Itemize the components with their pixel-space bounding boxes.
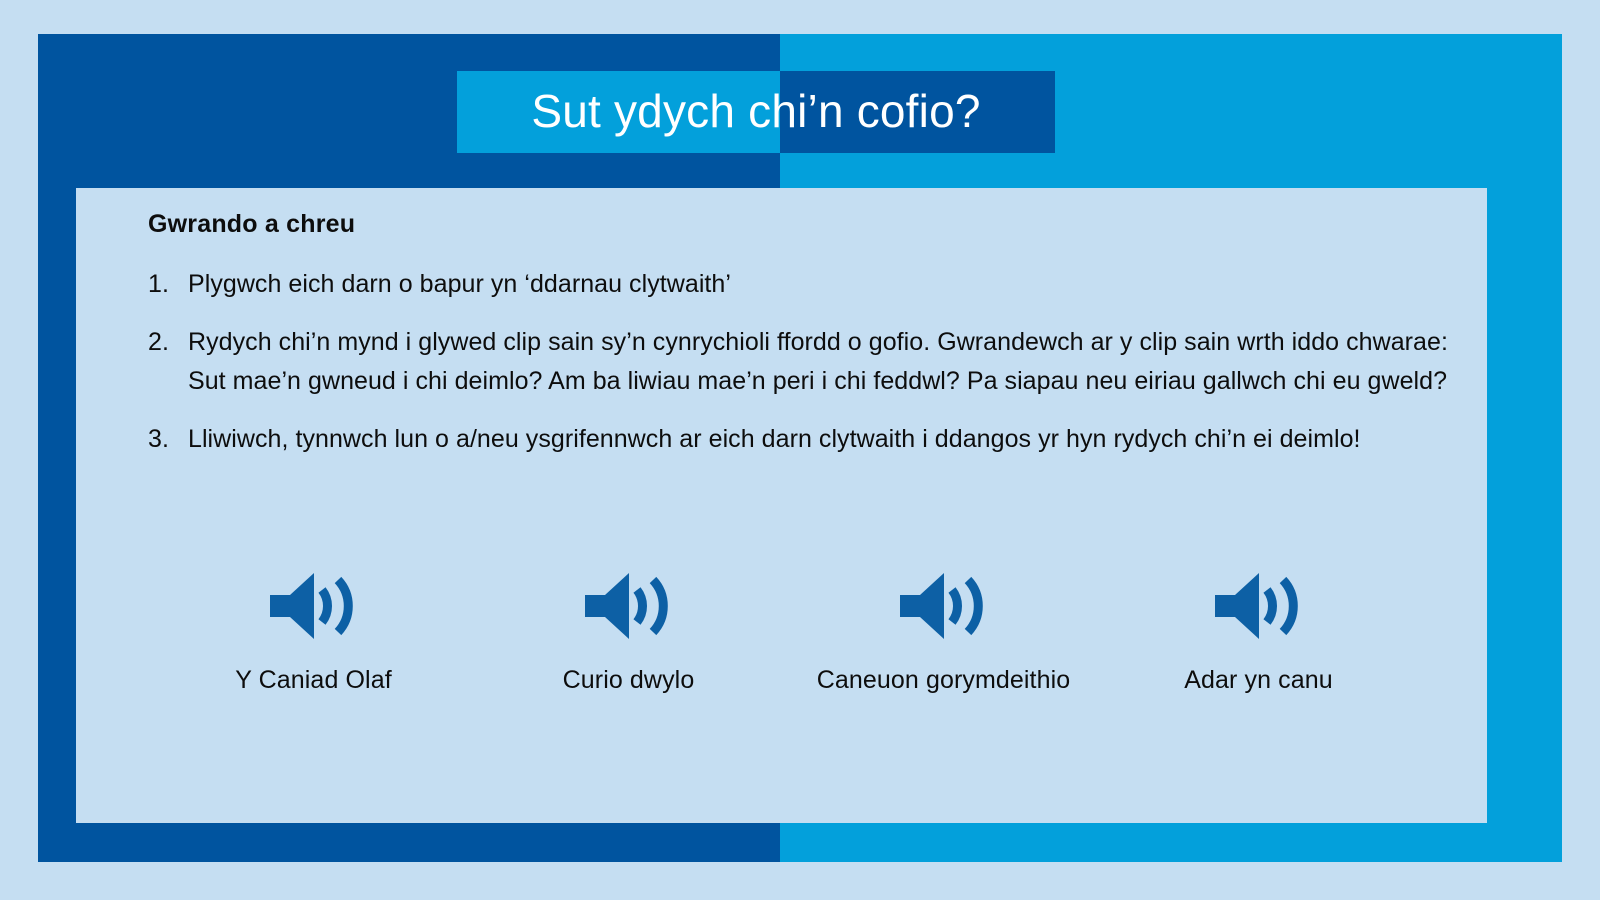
content-card: Gwrando a chreu Plygwch eich darn o bapu… [76, 188, 1487, 823]
speaker-icon[interactable] [894, 570, 994, 642]
slide-canvas: Sut ydych chi’n cofio? Gwrando a chreu P… [0, 0, 1600, 900]
instruction-step: Rydych chi’n mynd i glywed clip sain sy’… [148, 323, 1451, 402]
audio-clip-label: Curio dwylo [471, 664, 786, 697]
slide-title: Sut ydych chi’n cofio? [457, 71, 1055, 153]
instruction-step: Plygwch eich darn o bapur yn ‘ddarnau cl… [148, 265, 1451, 305]
instruction-list: Plygwch eich darn o bapur yn ‘ddarnau cl… [148, 265, 1451, 459]
audio-clip-item[interactable]: Adar yn canu [1101, 570, 1416, 697]
audio-clip-item[interactable]: Y Caniad Olaf [156, 570, 471, 697]
audio-clip-label: Caneuon gorymdeithio [786, 664, 1101, 697]
audio-clip-item[interactable]: Curio dwylo [471, 570, 786, 697]
audio-clip-label: Y Caniad Olaf [156, 664, 471, 697]
speaker-icon[interactable] [1209, 570, 1309, 642]
slide-title-block: Sut ydych chi’n cofio? [457, 71, 1055, 153]
speaker-icon[interactable] [264, 570, 364, 642]
audio-clip-item[interactable]: Caneuon gorymdeithio [786, 570, 1101, 697]
instruction-step: Lliwiwch, tynnwch lun o a/neu ysgrifennw… [148, 420, 1451, 460]
speaker-icon[interactable] [579, 570, 679, 642]
section-heading: Gwrando a chreu [148, 210, 1451, 239]
audio-clip-label: Adar yn canu [1101, 664, 1416, 697]
audio-clip-row: Y Caniad Olaf Curio dwylo Caneuon gorymd… [76, 570, 1487, 697]
